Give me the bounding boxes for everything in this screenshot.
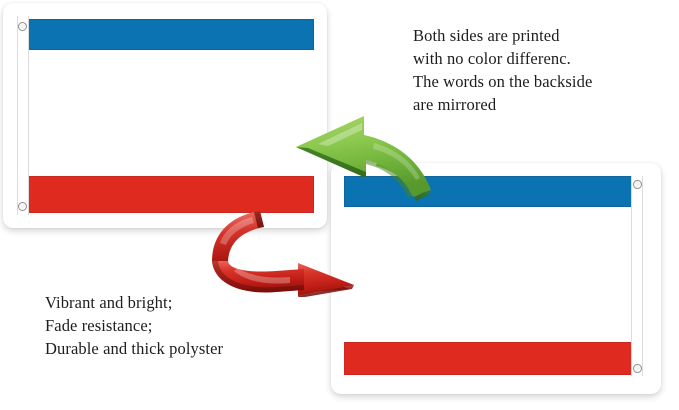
flag-front-stripe-blue bbox=[17, 19, 314, 50]
flag-fabric-back bbox=[344, 176, 643, 376]
flag-front-hoist-band bbox=[17, 16, 29, 215]
flag-card-back bbox=[331, 163, 661, 394]
grommet-icon bbox=[633, 180, 642, 189]
grommet-icon bbox=[18, 22, 27, 31]
flag-card-front bbox=[3, 3, 327, 228]
product-feature-graphic: Both sides are printed with no color dif… bbox=[0, 0, 679, 410]
note-vibrant-fade-durable: Vibrant and bright; Fade resistance; Dur… bbox=[45, 291, 325, 360]
flag-back-hoist-band bbox=[631, 176, 643, 376]
grommet-icon bbox=[633, 364, 642, 373]
note-both-sides-printed: Both sides are printed with no color dif… bbox=[413, 24, 675, 116]
flag-back-stripe-red bbox=[344, 342, 643, 375]
flag-back-stripe-blue bbox=[344, 176, 643, 207]
flag-front-stripe-red bbox=[17, 176, 314, 213]
flag-fabric-front bbox=[17, 16, 314, 215]
grommet-icon bbox=[18, 202, 27, 211]
